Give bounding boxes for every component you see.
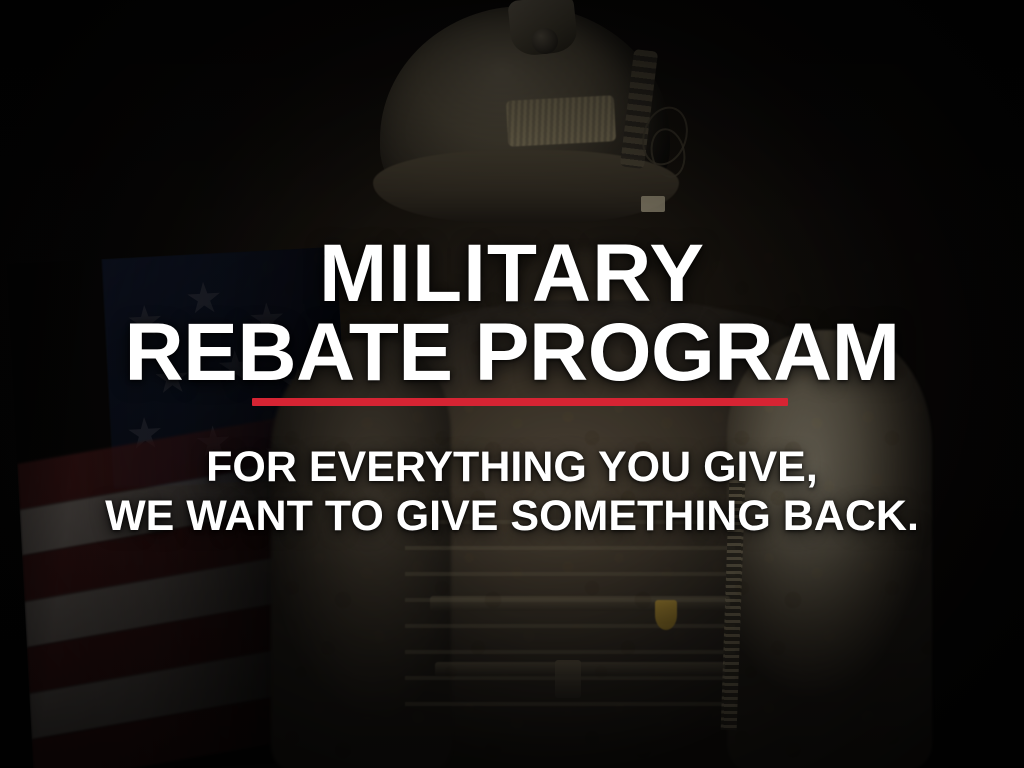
subheadline-line-1: FOR EVERYTHING YOU GIVE, <box>0 443 1024 492</box>
subheadline-line-2: WE WANT TO GIVE SOMETHING BACK. <box>0 492 1024 541</box>
red-divider-rule <box>252 398 788 406</box>
page-title: MILITARY REBATE PROGRAM <box>0 235 1024 392</box>
headline-line-2: REBATE PROGRAM <box>0 314 1024 393</box>
headline-line-1: MILITARY <box>0 235 1024 314</box>
subheadline: FOR EVERYTHING YOU GIVE, WE WANT TO GIVE… <box>0 443 1024 542</box>
text-overlay: MILITARY REBATE PROGRAM FOR EVERYTHING Y… <box>0 0 1024 768</box>
military-rebate-banner: MILITARY REBATE PROGRAM FOR EVERYTHING Y… <box>0 0 1024 768</box>
headline-block: MILITARY REBATE PROGRAM <box>0 214 1024 414</box>
